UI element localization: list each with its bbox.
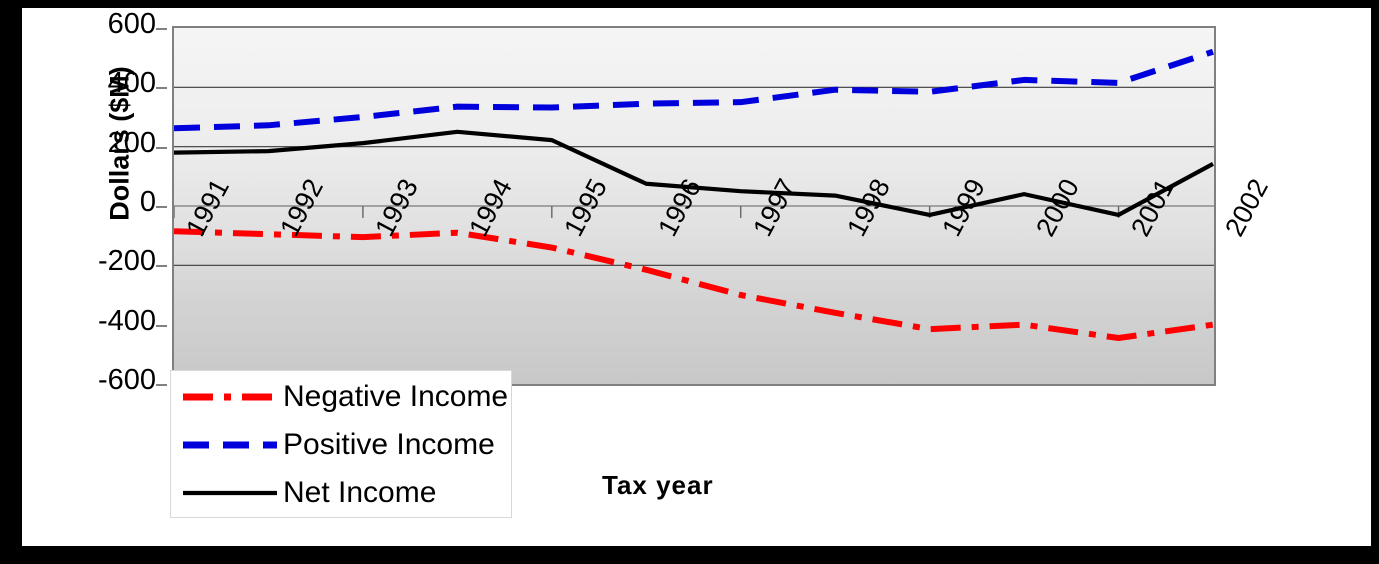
legend-item-positive-income[interactable]: Positive Income — [171, 421, 513, 469]
y-axis-tick-labels: 6004002000-200-400-600 — [52, 8, 156, 546]
series-line-positive-income — [174, 52, 1213, 129]
series-line-negative-income — [174, 231, 1213, 338]
y-tick-label-neg600: -600 — [70, 366, 156, 395]
chart-canvas: Dollars ($M) 6004002000-200-400-600 1991… — [22, 8, 1371, 546]
legend-label: Positive Income — [283, 427, 495, 463]
legend-item-negative-income[interactable]: Negative Income — [171, 373, 513, 421]
screenshot-root: Dollars ($M) 6004002000-200-400-600 1991… — [0, 0, 1379, 564]
y-tick-mark — [156, 28, 167, 30]
legend-swatch-icon — [181, 373, 279, 421]
legend-swatch-icon — [181, 421, 279, 469]
x-axis-title: Tax year — [602, 470, 714, 501]
y-tick-label-600: 600 — [70, 10, 156, 39]
legend-label: Negative Income — [283, 379, 508, 415]
y-tick-mark — [156, 147, 167, 149]
y-tick-mark — [156, 384, 167, 386]
y-tick-label-neg400: -400 — [70, 307, 156, 336]
y-tick-mark — [156, 265, 167, 267]
y-tick-mark — [156, 206, 167, 208]
y-tick-label-400: 400 — [70, 69, 156, 98]
x-tick-label-2002: 2002 — [1221, 175, 1273, 241]
legend-swatch-icon — [181, 469, 279, 517]
y-tick-label-neg200: -200 — [70, 247, 156, 276]
y-tick-label-200: 200 — [70, 129, 156, 158]
chart-legend: Negative IncomePositive IncomeNet Income — [170, 370, 512, 518]
legend-item-net-income[interactable]: Net Income — [171, 469, 513, 517]
legend-label: Net Income — [283, 475, 436, 511]
y-tick-mark — [156, 87, 167, 89]
y-tick-label-0: 0 — [70, 188, 156, 217]
y-tick-mark — [156, 325, 167, 327]
